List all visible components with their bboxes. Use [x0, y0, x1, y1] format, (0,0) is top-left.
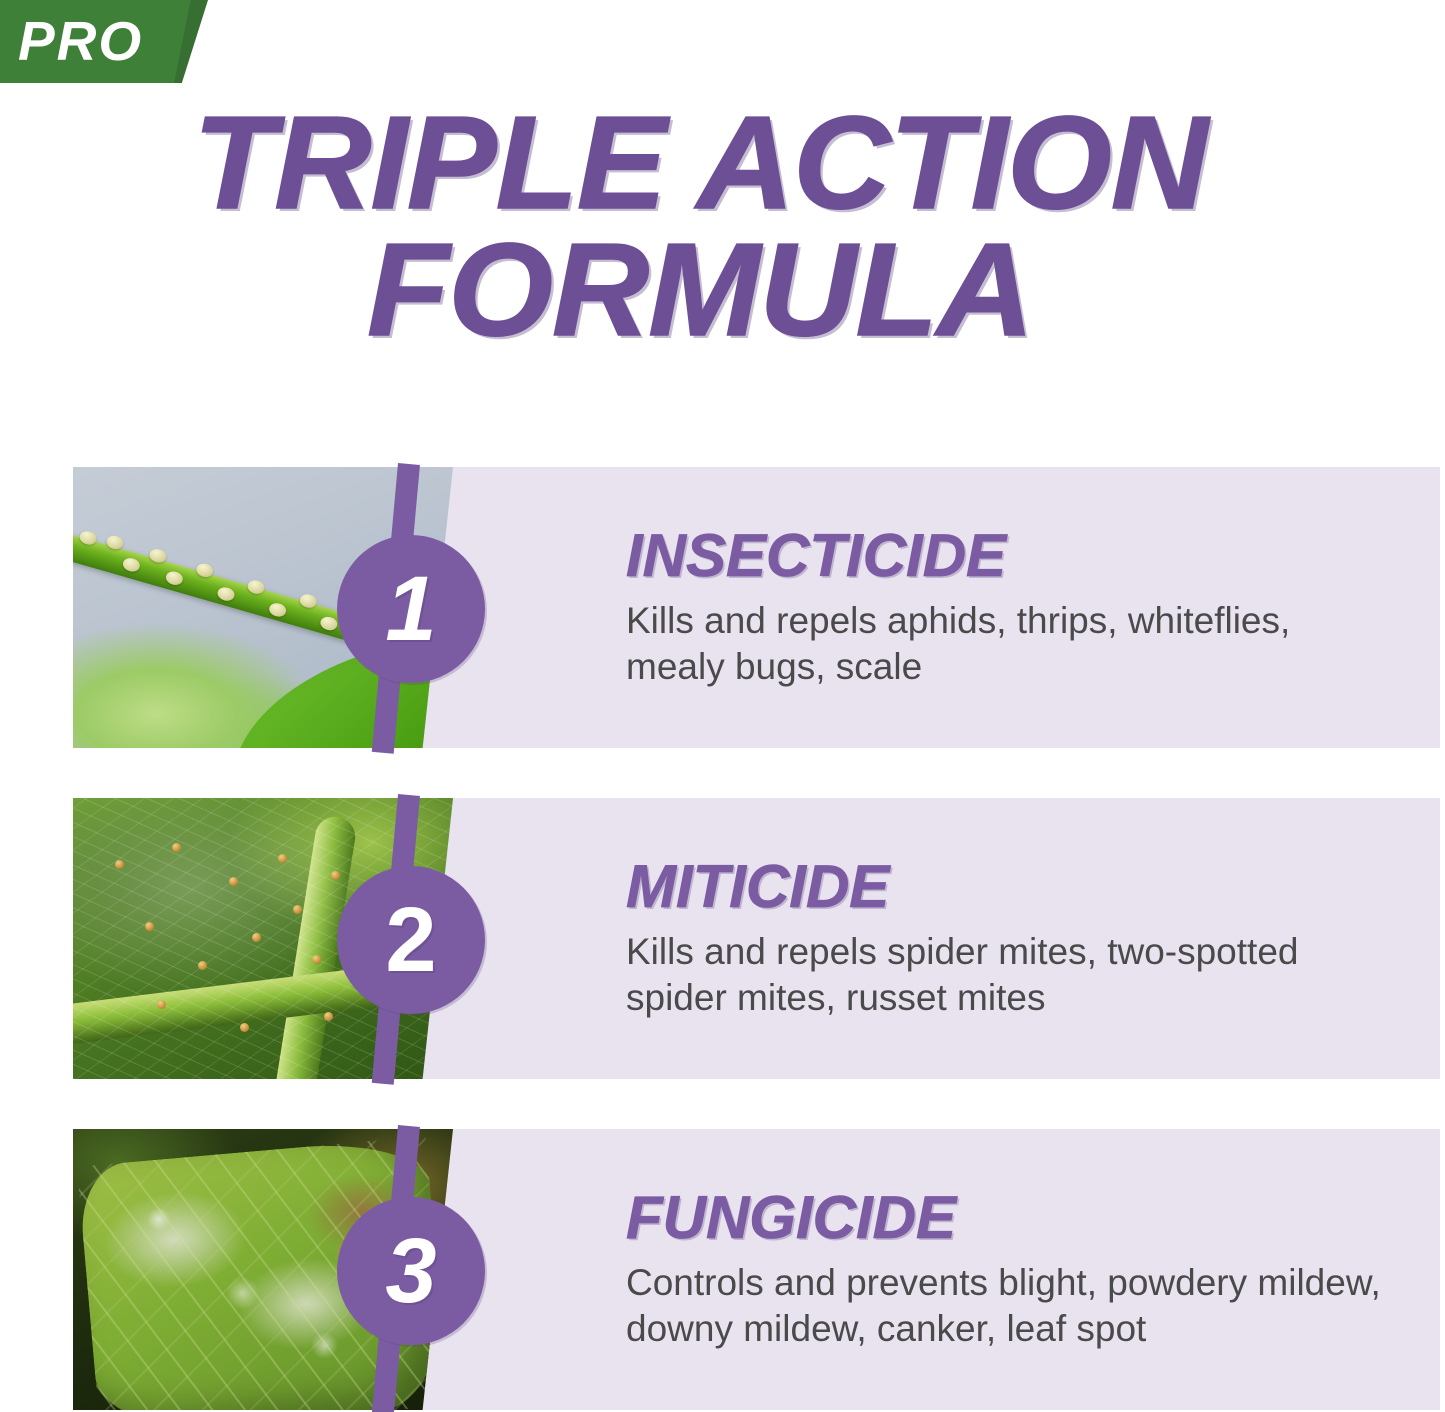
- feature-number-label: 2: [385, 894, 436, 986]
- feature-row-insecticide: 1 INSECTICIDE Kills and repels aphids, t…: [73, 467, 1440, 748]
- triple-action-formula-infographic: PRO TRIPLE ACTION FORMULA: [0, 0, 1445, 1412]
- feature-number-badge-3: 3: [337, 1197, 485, 1345]
- pro-badge-label: PRO: [18, 0, 143, 83]
- feature-number-label: 1: [385, 563, 436, 655]
- feature-row-fungicide: 3 FUNGICIDE Controls and prevents blight…: [73, 1129, 1440, 1410]
- feature-number-badge-1: 1: [337, 535, 485, 683]
- feature-text-block: FUNGICIDE Controls and prevents blight, …: [626, 1129, 1426, 1410]
- feature-row-miticide: 2 MITICIDE Kills and repels spider mites…: [73, 798, 1440, 1079]
- feature-description-miticide: Kills and repels spider mites, two-spott…: [626, 929, 1326, 1019]
- page-title-line-2: FORMULA: [0, 227, 1414, 354]
- pro-badge: PRO: [0, 0, 208, 83]
- feature-text-block: MITICIDE Kills and repels spider mites, …: [626, 798, 1426, 1079]
- feature-title-miticide: MITICIDE: [626, 857, 1426, 917]
- feature-description-fungicide: Controls and prevents blight, powdery mi…: [626, 1260, 1386, 1350]
- feature-number-badge-2: 2: [337, 866, 485, 1014]
- page-title-line-1: TRIPLE ACTION: [0, 100, 1414, 227]
- page-title: TRIPLE ACTION FORMULA: [0, 100, 1400, 353]
- feature-description-insecticide: Kills and repels aphids, thrips, whitefl…: [626, 598, 1326, 688]
- feature-number-label: 3: [385, 1225, 436, 1317]
- feature-text-block: INSECTICIDE Kills and repels aphids, thr…: [626, 467, 1426, 748]
- feature-title-insecticide: INSECTICIDE: [626, 526, 1426, 586]
- feature-title-fungicide: FUNGICIDE: [626, 1188, 1426, 1248]
